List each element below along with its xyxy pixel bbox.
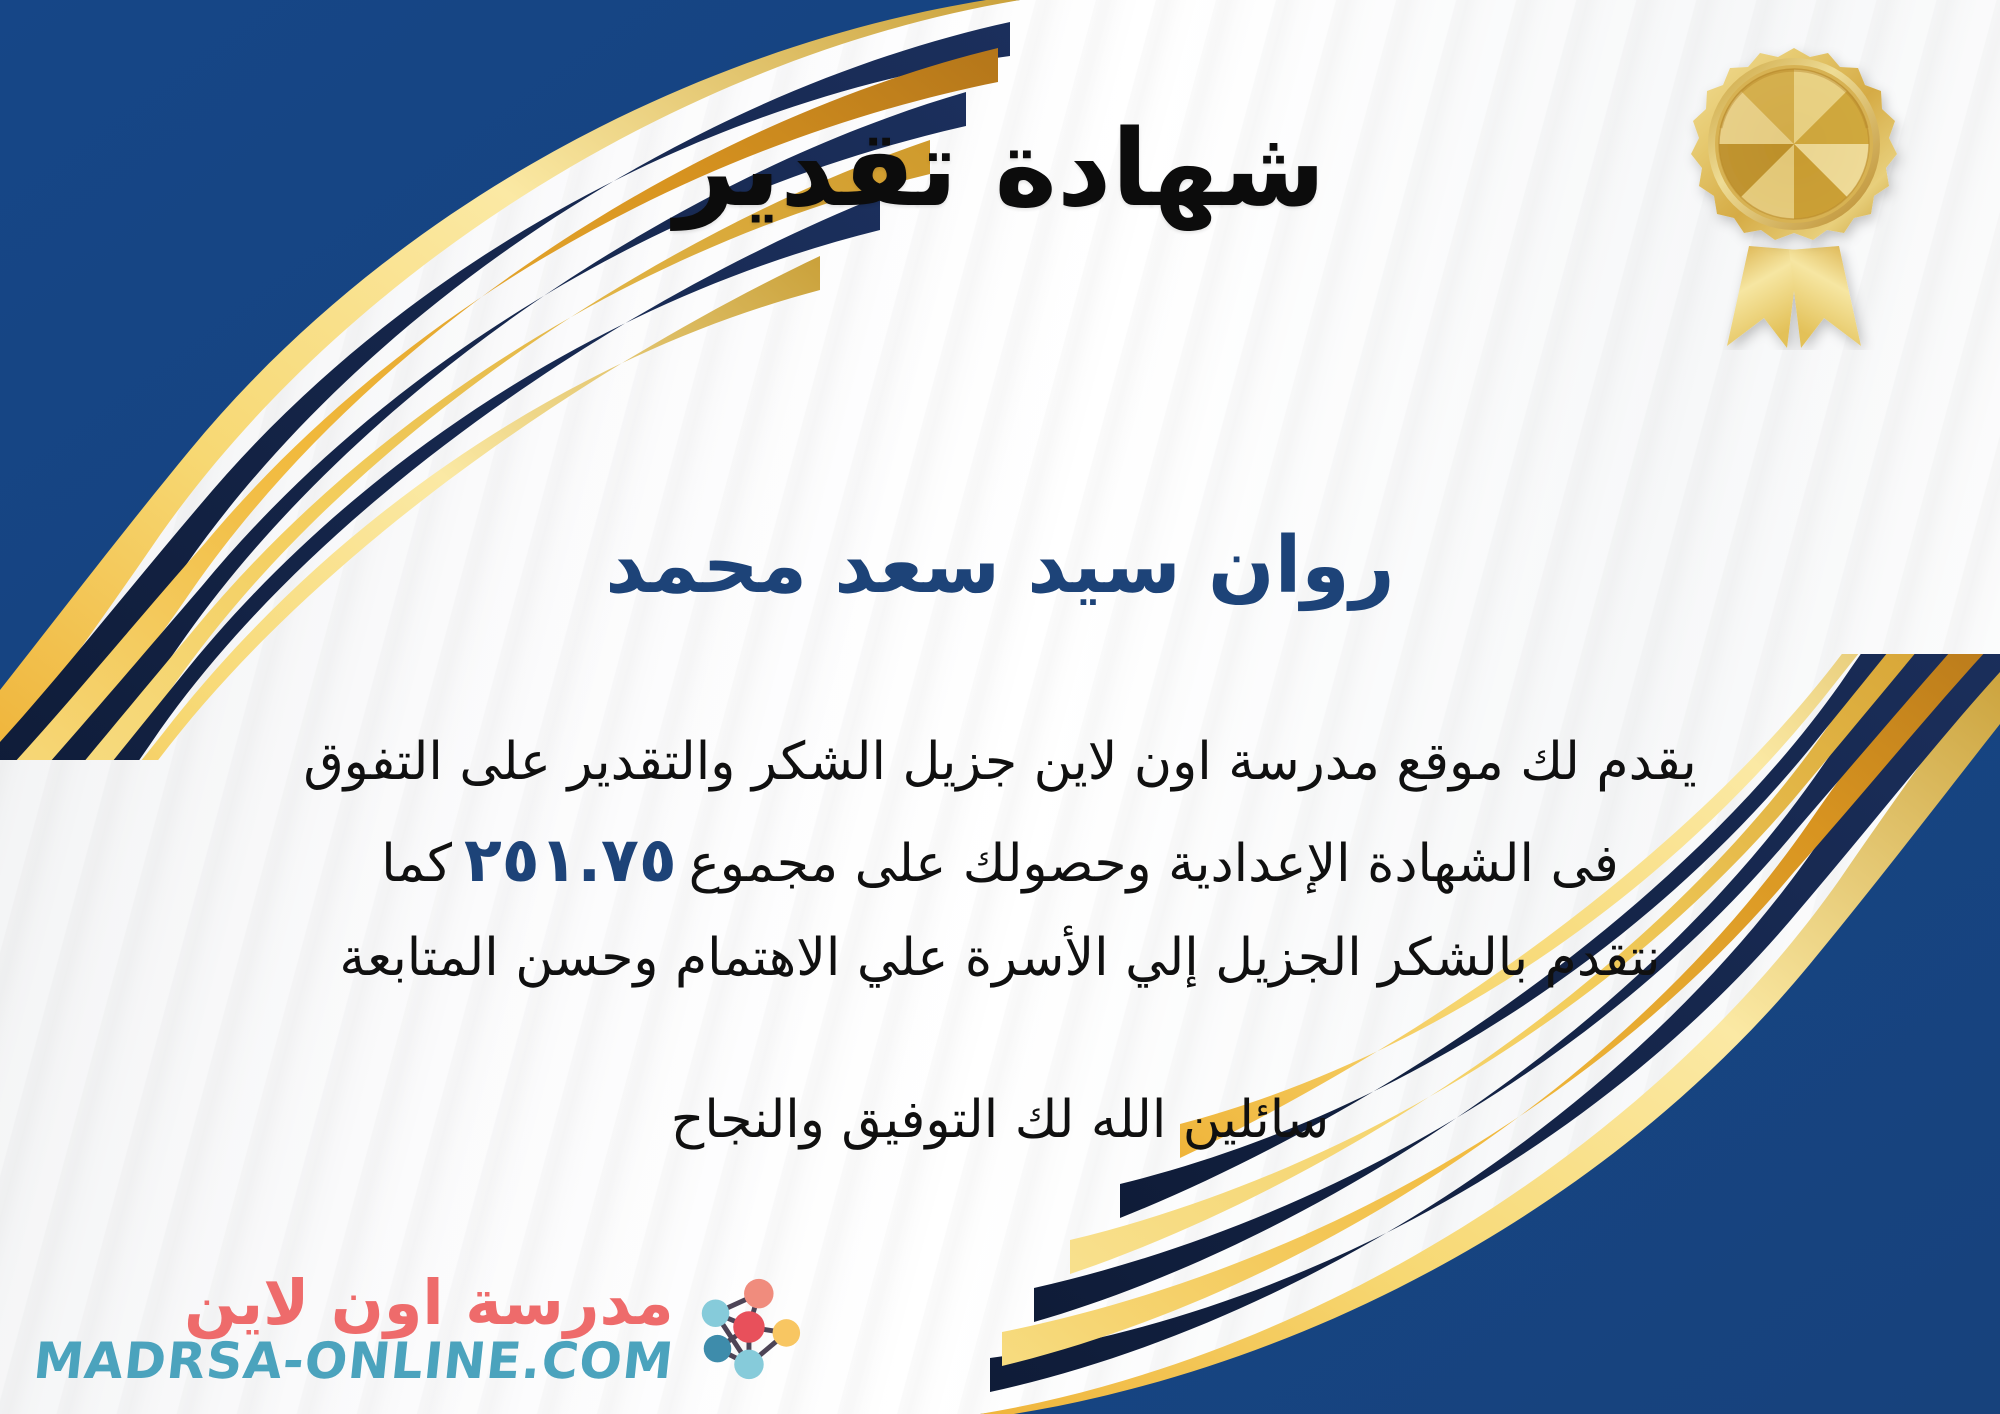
recipient-name: روان سيد سعد محمد bbox=[0, 520, 2000, 614]
score-value: ٢٥١.٧٥ bbox=[452, 823, 689, 896]
brand-logo[interactable]: مدرسة اون لاين MADRSA-ONLINE.COM bbox=[34, 1270, 806, 1388]
gold-award-seal-icon bbox=[1663, 40, 1925, 350]
body-line-1: يقدم لك موقع مدرسة اون لاين جزيل الشكر و… bbox=[40, 718, 1960, 807]
certificate-canvas: شهادة تقدير روان سيد سعد محمد يقدم لك مو… bbox=[0, 0, 2000, 1414]
brand-website: MADRSA-ONLINE.COM bbox=[31, 1335, 676, 1388]
certificate-body-text: يقدم لك موقع مدرسة اون لاين جزيل الشكر و… bbox=[40, 718, 1960, 1004]
network-nodes-icon bbox=[688, 1270, 806, 1388]
body-line-2-prefix: فى الشهادة الإعدادية وحصولك على مجموع bbox=[689, 834, 1619, 894]
body-line-2: فى الشهادة الإعدادية وحصولك على مجموع٢٥١… bbox=[40, 807, 1960, 914]
body-line-2-suffix: كما bbox=[381, 834, 452, 894]
brand-arabic-name: مدرسة اون لاين bbox=[184, 1270, 674, 1335]
body-line-3: نتقدم بالشكر الجزيل إلي الأسرة علي الاهت… bbox=[40, 914, 1960, 1003]
brand-text-block: مدرسة اون لاين MADRSA-ONLINE.COM bbox=[34, 1270, 674, 1388]
closing-line: سائلين الله لك التوفيق والنجاح bbox=[0, 1090, 2000, 1150]
